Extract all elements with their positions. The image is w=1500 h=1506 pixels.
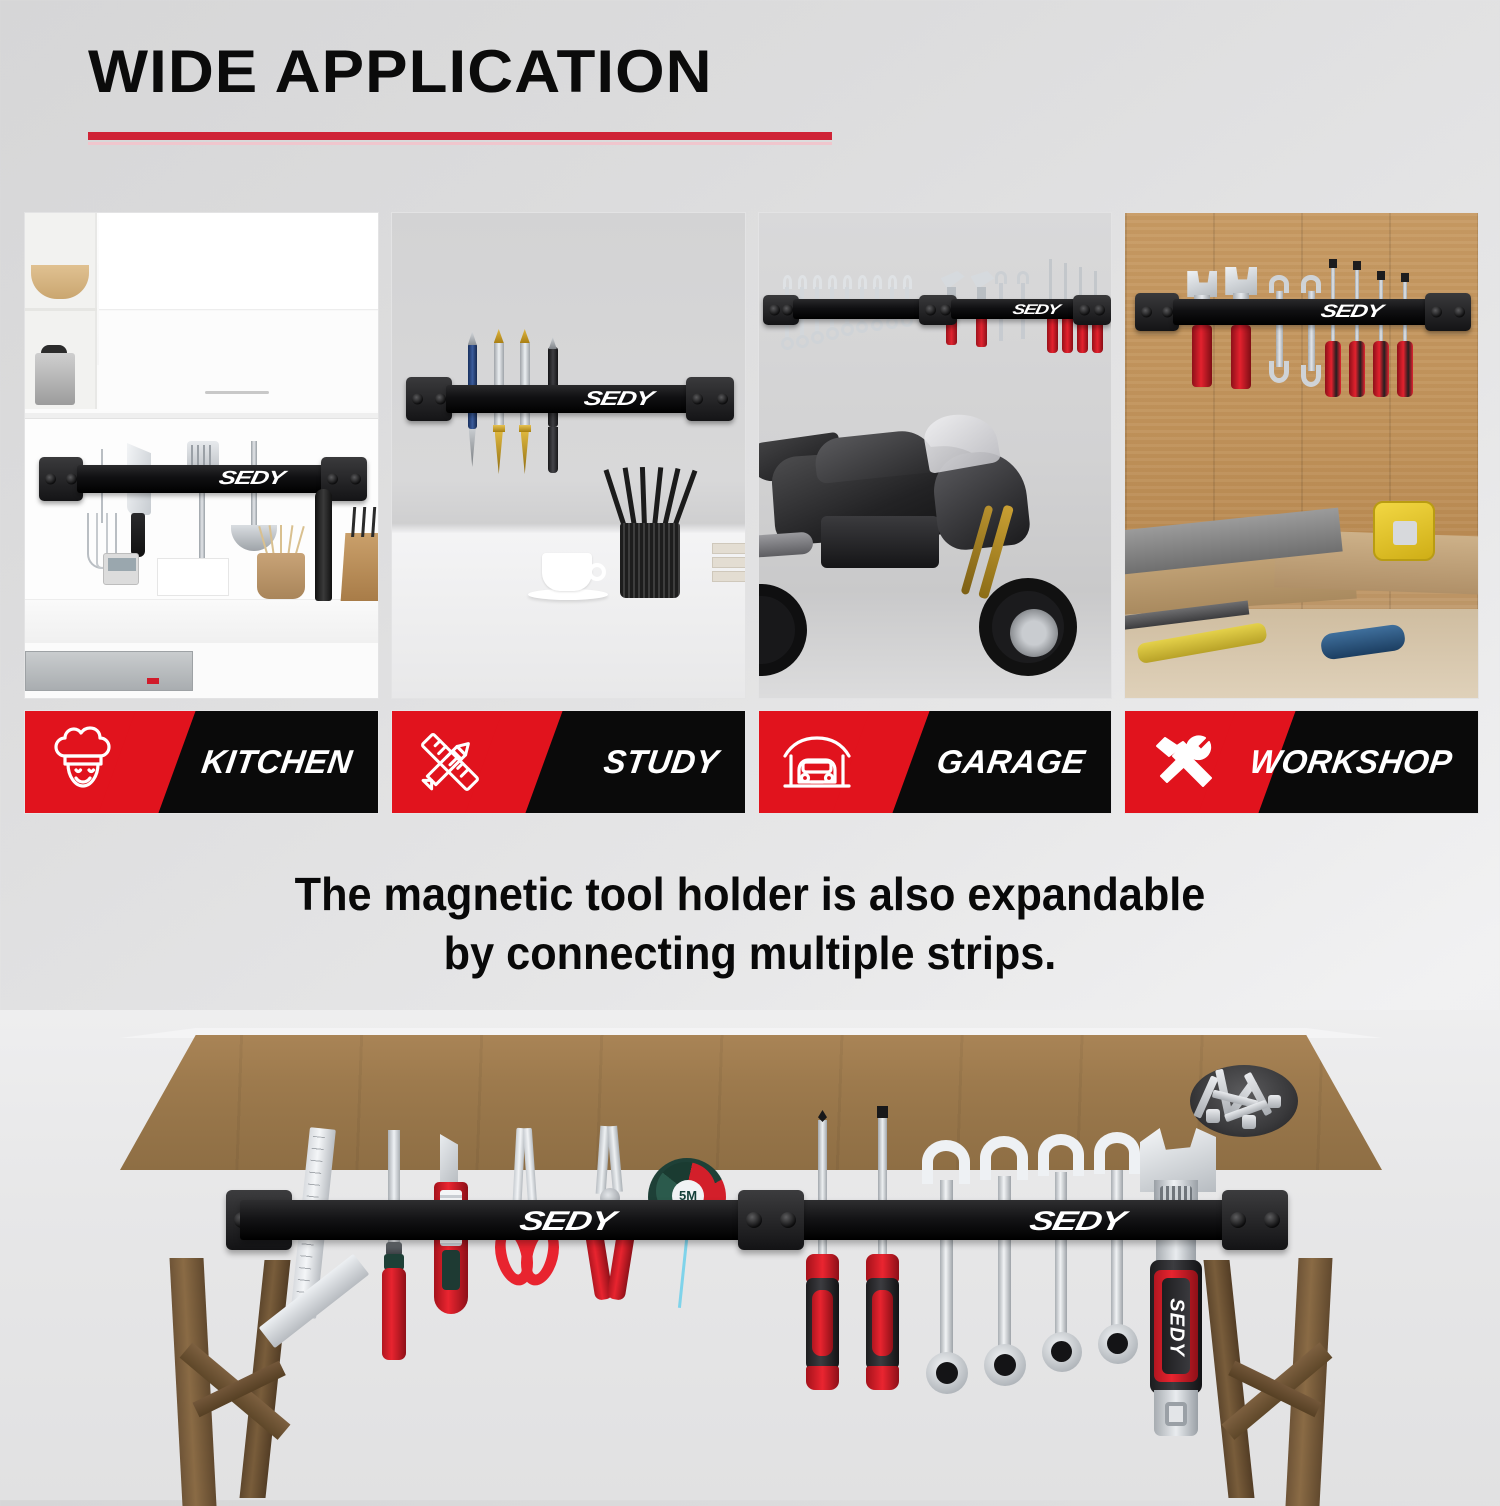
tagline-line-2: by connecting multiple strips.: [45, 924, 1455, 983]
kitchen-timer: [103, 553, 139, 585]
hero-scene: 5M: [0, 1010, 1500, 1500]
strip-mount-right: [1073, 295, 1111, 325]
category-label: KITCHEN: [199, 743, 355, 781]
workshop-bench: [1124, 513, 1479, 699]
ruler-pencil-icon: [414, 726, 486, 798]
strip-brand-logo: SEDY: [217, 468, 286, 490]
pencils: [620, 463, 682, 527]
magnetic-strip: [446, 385, 702, 413]
tagline-line-1: The magnetic tool holder is also expanda…: [45, 865, 1455, 924]
pen-gold-2-band: [519, 425, 531, 432]
page-header: WIDE APPLICATION: [88, 42, 848, 145]
hero-strip-brand-right: SEDY: [1027, 1206, 1127, 1237]
adjustable-wrench-1: [1187, 271, 1221, 391]
utensil-pot: [257, 553, 305, 599]
hero-strip-brand-left: SEDY: [517, 1206, 617, 1237]
hammer-wrench-icon: [1147, 726, 1219, 798]
magnetic-strip-left: [793, 299, 925, 319]
espresso-cup: [542, 553, 592, 591]
espresso-cup-handle: [588, 563, 606, 581]
motorcycle-rear-wheel: [758, 584, 807, 676]
scene-card-garage: SEDY: [758, 212, 1113, 699]
scene-card-workshop: SEDY: [1124, 212, 1479, 699]
kitchen-shelf-divider: [25, 308, 97, 311]
ratcheting-wrench-2: [980, 1136, 1028, 1180]
kitchen-cabinet-bottom: [99, 311, 379, 411]
magnetic-strip: [77, 465, 335, 493]
knife-block: [341, 533, 379, 601]
ratcheting-wrench-1: [922, 1140, 970, 1184]
pepper-grinder: [315, 489, 332, 601]
strip-brand-logo: SEDY: [1011, 301, 1060, 317]
open-end-wrench-2: [1301, 275, 1323, 395]
title-underline-shadow: [88, 142, 832, 145]
pen-gold-1: [494, 341, 504, 427]
scene-card-study: SEDY: [391, 212, 746, 699]
stacked-books: [712, 543, 746, 589]
workshop-screwdrivers: [1325, 265, 1415, 405]
motorcycle-front-wheel: [979, 578, 1077, 676]
pen-gold-1-band: [493, 425, 505, 432]
tape-measure: [1373, 501, 1435, 561]
category-workshop[interactable]: WORKSHOP: [1124, 710, 1479, 814]
hero-strip-mount-right: [1222, 1190, 1288, 1250]
wrench-row: [781, 275, 921, 367]
scene-card-kitchen: SEDY: [24, 212, 379, 699]
category-garage[interactable]: GARAGE: [758, 710, 1113, 814]
strip-brand-logo: SEDY: [581, 388, 654, 411]
category-label: WORKSHOP: [1247, 743, 1454, 781]
garage-car-icon: [781, 726, 853, 798]
strip-mount-right: [686, 377, 734, 421]
motorcycle-engine: [821, 516, 939, 568]
ratcheting-wrench-3: [1038, 1134, 1084, 1176]
mesh-pencil-cup: [620, 523, 680, 598]
utensil-straws: [265, 523, 299, 557]
motorcycle-exhaust: [758, 532, 814, 559]
kitchen-cabinet-handle: [205, 391, 269, 394]
magnetic-strip: [1173, 299, 1431, 325]
chef-hat-icon: [47, 726, 119, 798]
magnetic-screw-tray: [1190, 1065, 1298, 1137]
page-title: WIDE APPLICATION: [88, 42, 894, 102]
storage-boxes: [157, 558, 229, 596]
chef-knife-handle: [131, 513, 145, 557]
category-label: GARAGE: [935, 743, 1088, 781]
hero-strip-connector-mount: [738, 1190, 804, 1250]
wrench-brand-logo: SEDY: [1165, 1290, 1188, 1366]
french-press: [35, 353, 75, 405]
category-study[interactable]: STUDY: [391, 710, 746, 814]
utility-knife: [440, 1134, 458, 1200]
slotted-spatula-slots: [191, 445, 215, 467]
kitchen-countertop: [25, 599, 378, 643]
pen-gold-2: [520, 341, 530, 427]
title-underline-bar: [88, 132, 832, 140]
strip-mount-left: [406, 377, 452, 421]
category-kitchen[interactable]: KITCHEN: [24, 710, 379, 814]
motorcycle: [758, 408, 1099, 668]
scene-card-row: SEDY SEDY: [24, 212, 1479, 699]
motorcycle-front-rim: [1010, 609, 1058, 657]
strip-brand-logo: SEDY: [1319, 301, 1384, 322]
screwdriver-handle: [382, 1268, 406, 1360]
dishwasher: [25, 651, 193, 691]
dishwasher-indicator: [147, 678, 159, 684]
title-underline: [88, 132, 832, 145]
category-label: STUDY: [601, 743, 721, 781]
pen-black-barrel: [548, 427, 558, 473]
open-end-wrench-1: [1269, 275, 1291, 395]
kitchen-cabinet-top: [99, 213, 379, 310]
category-label-row: KITCHEN STUDY: [24, 710, 1479, 814]
strip-mount-right: [1425, 293, 1471, 331]
tagline: The magnetic tool holder is also expanda…: [45, 865, 1455, 983]
ratcheting-wrench-4: [1094, 1132, 1140, 1174]
adjustable-wrench-2: [1225, 267, 1259, 395]
